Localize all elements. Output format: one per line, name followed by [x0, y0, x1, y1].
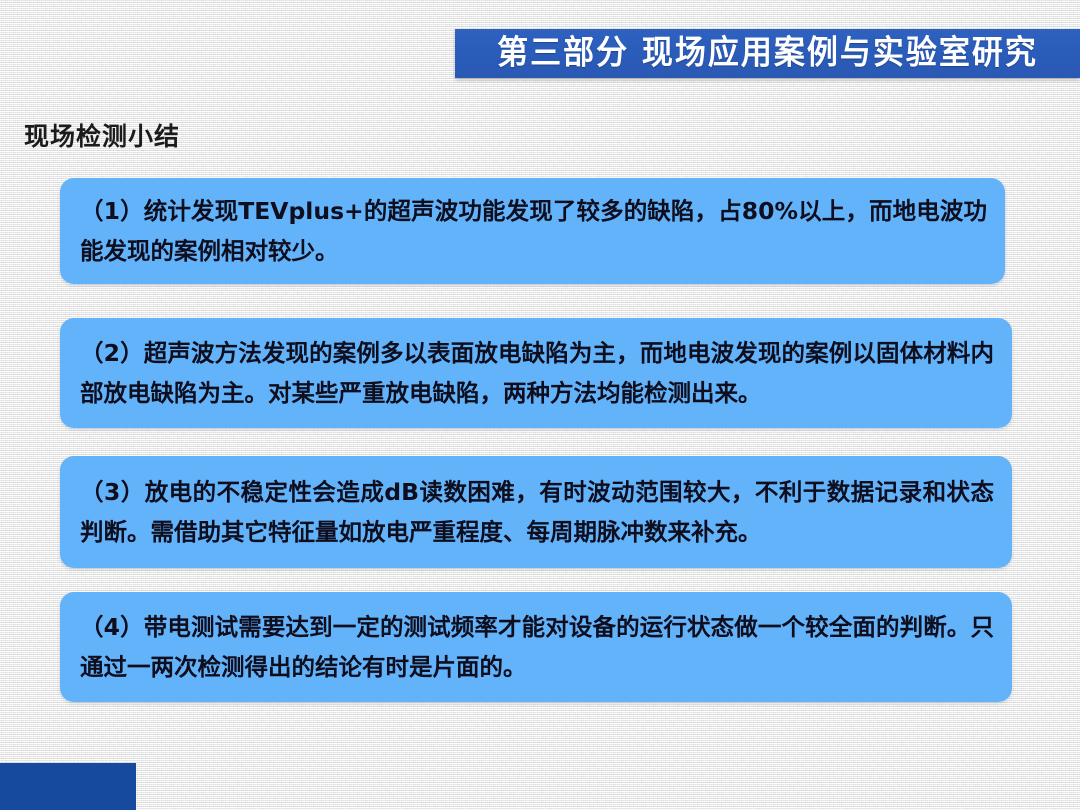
bullet-card-2-text: （2）超声波方法发现的案例多以表面放电缺陷为主，而地电波发现的案例以固体材料内部… — [80, 333, 994, 414]
bullet-card-4: （4）带电测试需要达到一定的测试频率才能对设备的运行状态做一个较全面的判断。只通… — [60, 592, 1012, 702]
bullet-card-2: （2）超声波方法发现的案例多以表面放电缺陷为主，而地电波发现的案例以固体材料内部… — [60, 318, 1012, 428]
footer-accent-block — [0, 763, 136, 810]
bullet-card-4-text: （4）带电测试需要达到一定的测试频率才能对设备的运行状态做一个较全面的判断。只通… — [80, 607, 994, 688]
bullet-card-list: （1）统计发现TEVplus+的超声波功能发现了较多的缺陷，占80%以上，而地电… — [0, 0, 1080, 810]
bullet-card-1-text: （1）统计发现TEVplus+的超声波功能发现了较多的缺陷，占80%以上，而地电… — [80, 191, 987, 272]
header-title: 第三部分 现场应用案例与实验室研究 — [497, 37, 1038, 70]
bullet-card-1: （1）统计发现TEVplus+的超声波功能发现了较多的缺陷，占80%以上，而地电… — [60, 178, 1005, 284]
bullet-card-3-text: （3）放电的不稳定性会造成dB读数困难，有时波动范围较大，不利于数据记录和状态判… — [80, 472, 994, 553]
header-banner: 第三部分 现场应用案例与实验室研究 — [455, 29, 1080, 78]
slide-canvas: 第三部分 现场应用案例与实验室研究 现场检测小结 （1）统计发现TEVplus+… — [0, 0, 1080, 810]
bullet-card-3: （3）放电的不稳定性会造成dB读数困难，有时波动范围较大，不利于数据记录和状态判… — [60, 456, 1012, 568]
